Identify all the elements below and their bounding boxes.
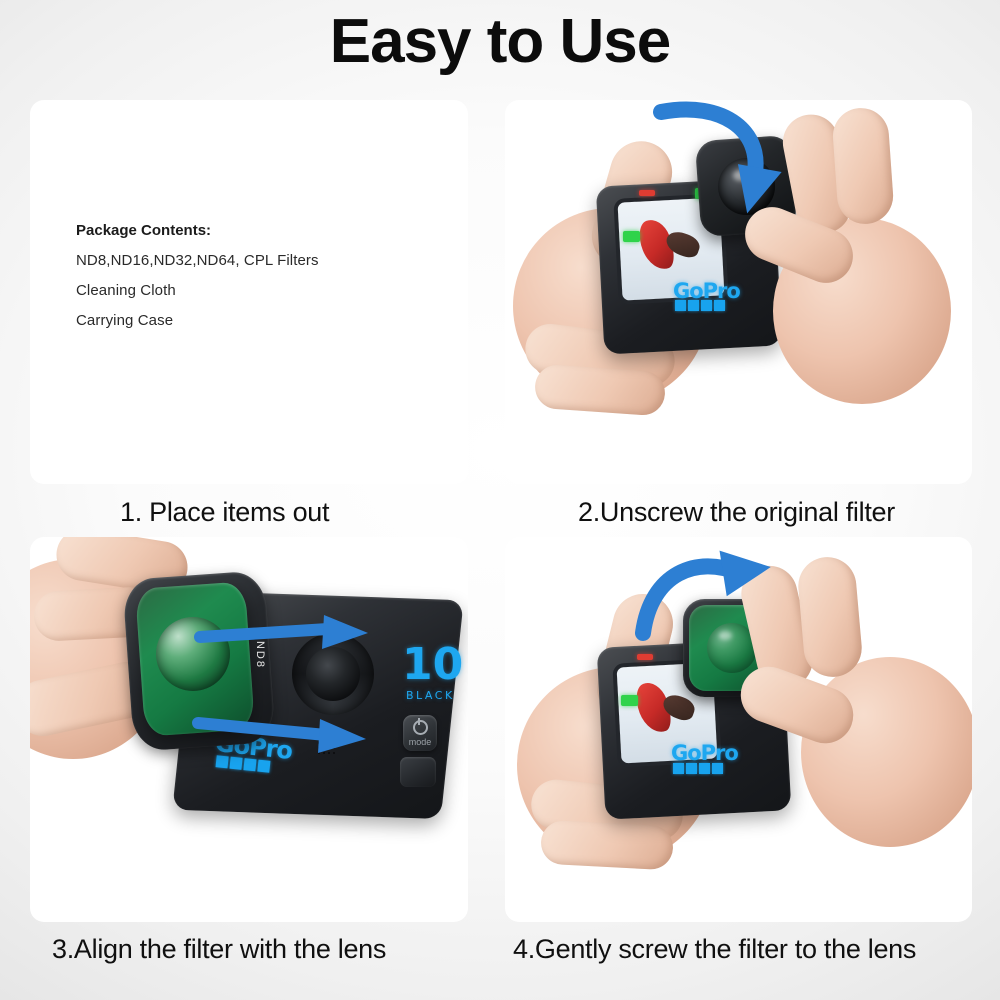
left-finger-middle	[540, 820, 674, 871]
straight-arrow-right-bottom-icon	[198, 709, 378, 753]
screw-filter-photo: GoPro	[505, 537, 972, 922]
step-3-caption: 3.Align the filter with the lens	[52, 934, 386, 965]
package-contents-panel: Package Contents: ND8,ND16,ND32,ND64, CP…	[30, 100, 468, 484]
step-2-caption: 2.Unscrew the original filter	[578, 497, 895, 528]
mode-button-label: mode	[403, 737, 437, 747]
model-edition-badge: BLACK	[406, 689, 455, 702]
package-contents-line-3: Carrying Case	[76, 312, 319, 329]
right-finger-middle	[796, 555, 864, 680]
align-filter-photo: 10 BLACK mode GoPro ND8	[30, 537, 468, 922]
status-led-left	[623, 231, 640, 242]
curved-arrow-up-right-icon	[633, 555, 773, 655]
align-scene: 10 BLACK mode GoPro ND8	[30, 537, 468, 922]
left-finger-middle	[534, 364, 667, 417]
straight-arrow-right-top-icon	[200, 619, 380, 659]
gopro-wordmark: GoPro	[671, 741, 738, 765]
right-finger-middle	[831, 106, 895, 226]
mode-button[interactable]: mode	[403, 715, 437, 751]
step-1-caption: 1. Place items out	[120, 497, 329, 528]
unscrew-filter-photo: GoPro	[505, 100, 972, 484]
gopro-logo-squares	[675, 300, 725, 311]
package-contents-heading: Package Contents:	[76, 222, 319, 239]
power-icon	[413, 720, 428, 735]
gopro-logo-squares	[673, 763, 723, 774]
package-contents-line-2: Cleaning Cloth	[76, 282, 319, 299]
status-led-left	[621, 695, 638, 706]
screw-scene: GoPro	[505, 537, 972, 922]
package-contents-line-1: ND8,ND16,ND32,ND64, CPL Filters	[76, 252, 319, 269]
unscrew-scene: GoPro	[505, 100, 972, 484]
step-4-caption: 4.Gently screw the filter to the lens	[513, 934, 916, 965]
curved-arrow-down-left-icon	[645, 106, 775, 226]
package-contents-list: Package Contents: ND8,ND16,ND32,ND64, CP…	[76, 222, 319, 342]
battery-door-latch[interactable]	[400, 757, 436, 787]
page-title: Easy to Use	[0, 6, 1000, 77]
model-number-badge: 10	[402, 645, 463, 685]
